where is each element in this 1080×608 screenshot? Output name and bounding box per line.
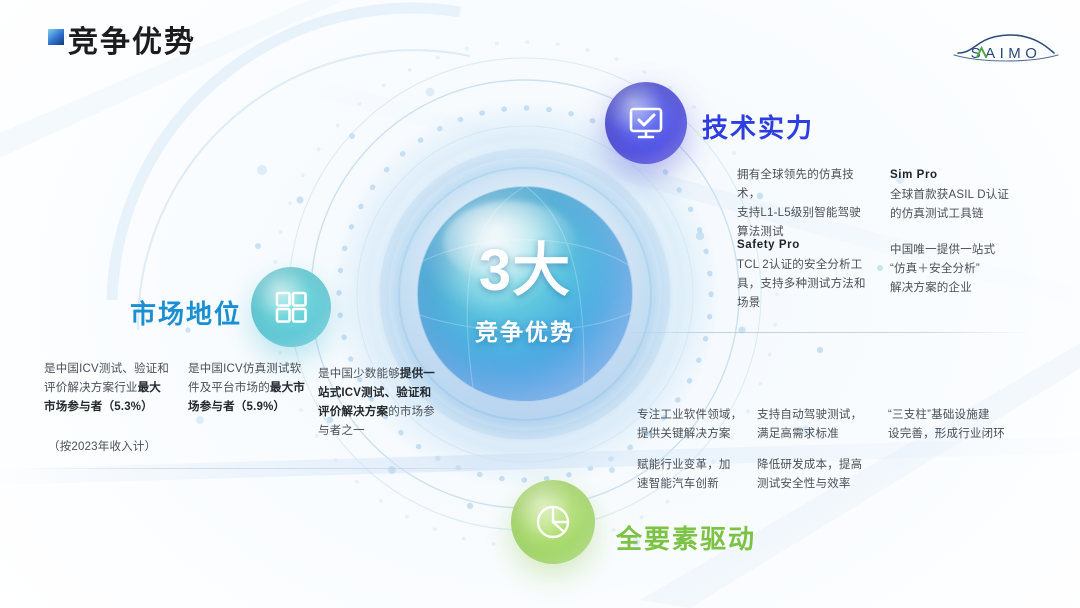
divider-market [28, 468, 498, 469]
tech-block-3: 中国唯一提供一站式 “仿真＋安全分析” 解决方案的企业 [890, 241, 1022, 298]
market-block-0: 是中国ICV测试、验证和 评价解决方案行业最大 市场参与者（5.3%） [44, 360, 179, 417]
page-title-text: 竞争优势 [68, 28, 196, 58]
monitor-check-icon [626, 103, 666, 143]
section-heading-tech: 技术实力 [702, 108, 814, 145]
driver-block-1: 支持自动驾驶测试， 满足高需求标准 [757, 406, 879, 444]
core-sub-text: 竞争优势 [475, 313, 575, 347]
section-heading-driver: 全要素驱动 [616, 519, 756, 556]
title-accent-square [48, 29, 64, 45]
core-label: 3大 竞争优势 [417, 186, 633, 402]
tech-block-0: 拥有全球领先的仿真技术， 支持L1-L5级别智能驾驶 算法测试 [737, 166, 867, 242]
tech-block-1-body: 全球首款获ASIL D认证 的仿真测试工具链 [890, 189, 1009, 220]
driver-block-3-body: 赋能行业变革，加 速智能汽车创新 [637, 459, 731, 490]
saimo-logo: SAIMO [950, 26, 1062, 68]
divider-tech [620, 332, 1030, 333]
tech-block-3-body: 中国唯一提供一站式 “仿真＋安全分析” 解决方案的企业 [890, 244, 995, 294]
tech-block-2: Safety Pro TCL 2认证的安全分析工 具，支持多种测试方法和 场景 [737, 236, 869, 313]
market-footnote: （按2023年收入计） [48, 438, 248, 457]
tech-block-2-body: TCL 2认证的安全分析工 具，支持多种测试方法和 场景 [737, 259, 866, 309]
market-block-2: 是中国少数能够提供一 站式ICV测试、验证和 评价解决方案的市场参 与者之一 [318, 365, 446, 441]
grid-four-squares-icon [271, 287, 311, 327]
driver-block-3: 赋能行业变革，加 速智能汽车创新 [637, 456, 755, 494]
driver-block-2-body: “三支柱”基础设施建 设完善，形成行业闭环 [888, 409, 1005, 440]
driver-block-4: 降低研发成本，提高 测试安全性与效率 [757, 456, 879, 494]
slide-canvas: 竞争优势 SAIMO [0, 0, 1080, 608]
tech-block-1-title: Sim Pro [890, 166, 1020, 185]
core-big-text: 3大 [479, 242, 571, 300]
driver-block-0: 专注工业软件领域， 提供关键解决方案 [637, 406, 757, 444]
node-tech[interactable] [605, 82, 687, 164]
section-heading-market: 市场地位 [130, 294, 242, 331]
core-sphere: 3大 竞争优势 [417, 186, 633, 402]
market-block-2-plain1: 是中国少数能够 [318, 368, 400, 380]
node-driver[interactable] [511, 480, 595, 564]
tech-block-0-body: 拥有全球领先的仿真技术， 支持L1-L5级别智能驾驶 算法测试 [737, 169, 861, 238]
tech-block-2-title: Safety Pro [737, 236, 869, 255]
driver-block-0-body: 专注工业软件领域， 提供关键解决方案 [637, 409, 742, 440]
driver-block-4-body: 降低研发成本，提高 测试安全性与效率 [757, 459, 862, 490]
driver-block-1-body: 支持自动驾驶测试， 满足高需求标准 [757, 409, 862, 440]
node-market[interactable] [251, 267, 331, 347]
pie-chart-icon [532, 501, 574, 543]
market-block-1: 是中国ICV仿真测试软 件及平台市场的最大市 场参与者（5.9%） [188, 360, 310, 417]
driver-block-2: “三支柱”基础设施建 设完善，形成行业闭环 [888, 406, 1018, 444]
page-title: 竞争优势 [48, 26, 196, 58]
tech-block-1: Sim Pro 全球首款获ASIL D认证 的仿真测试工具链 [890, 166, 1020, 224]
